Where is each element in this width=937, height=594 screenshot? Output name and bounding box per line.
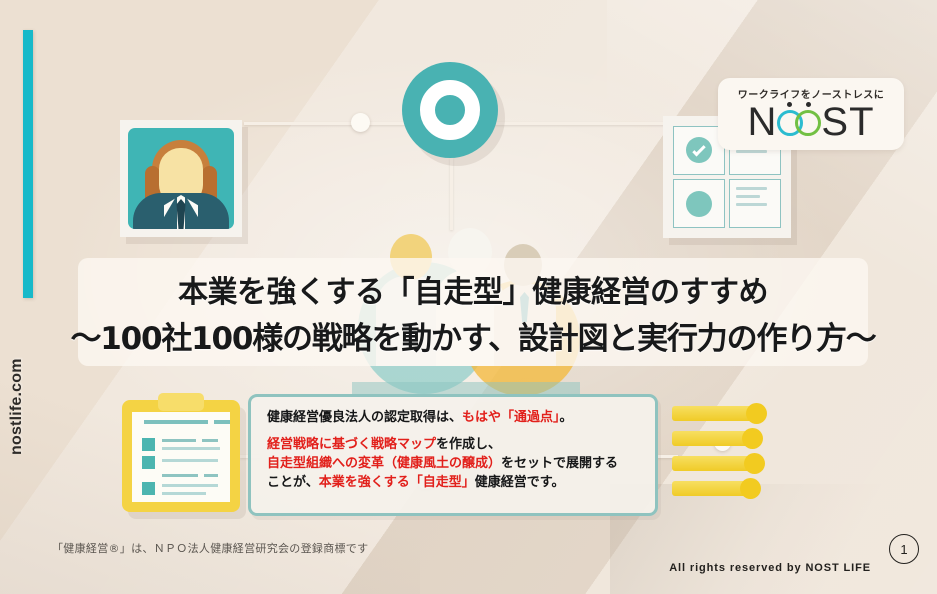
bullet-dot-icon [742,428,763,449]
logo-letter-s: S [821,102,849,142]
message-p1-part-a: 健康経営優良法人の認定取得は、 [267,410,462,425]
message-paragraph-4: ことが、本業を強くする「自走型」健康経営です。 [267,474,641,493]
target-donut-icon [402,62,498,158]
clipboard-checkbox-icon [142,482,155,495]
clipboard-row-line [162,492,206,495]
document-text-line [736,150,767,153]
page-title-line-2: 〜100社100様の戦略を動かす、設計図と実行力の作り方〜 [70,313,875,358]
check-circle-icon [686,137,712,163]
document-text-lines [736,187,774,211]
connector-line-avatar-to-donut [244,122,414,125]
brand-accent-bar [23,30,33,298]
logo-tagline: ワークライフをノーストレスに [738,86,885,101]
clipboard-illustration [122,400,240,512]
bullet-bar-icon [672,481,748,496]
connector-line-donut-to-doc [486,122,666,125]
bullet-bar-icon [672,431,750,446]
bullet-list-illustration [672,406,780,506]
clipboard-heading-bar [144,420,208,424]
bullet-dot-icon [740,478,761,499]
message-p1-part-c: 。 [560,410,573,425]
check-mark-icon [692,144,705,157]
clipboard-clip-icon [158,393,204,411]
logo-umlaut-left-icon [787,102,792,107]
logo-letter-t: T [849,102,874,142]
document-cell-circle [673,179,725,228]
connector-dot-left [351,113,370,132]
page-number-badge: 1 [889,534,919,564]
clipboard-heading-bar-2 [214,420,230,424]
message-p4-part-c: 健康経営です。 [475,475,565,490]
clipboard-row-line [162,447,220,450]
message-paragraph-3: 自走型組織への変革（健康風土の醸成）をセットで展開する [267,455,641,474]
logo-umlaut-right-icon [806,102,811,107]
logo-o-right-icon [795,110,821,136]
title-panel: 本業を強くする「自走型」健康経営のすすめ 〜100社100様の戦略を動かす、設計… [78,258,868,366]
avatar-card [120,120,242,237]
document-cell-lines-bottom [729,179,781,228]
clipboard-checkbox-icon [142,456,155,469]
trademark-notice: 「健康経営®」は、ＮＰＯ法人健康経営研究会の登録商標です [52,540,368,556]
document-text-line [736,187,767,190]
message-p2-highlight: 経営戦略に基づく戦略マップ [267,437,436,452]
message-p1-highlight: もはや「通過点」 [462,410,560,425]
plain-circle-icon [686,191,712,217]
site-url-vertical: nostlife.com [8,312,48,502]
bullet-dot-icon [746,403,767,424]
logo-wordmark: N S T [747,102,874,142]
clipboard-board-icon [122,400,240,512]
avatar [128,128,234,229]
message-p3-part-b: をセットで展開する [501,456,618,471]
slide-canvas: nostlife.com [0,0,937,594]
clipboard-row-line [162,474,198,477]
bullet-bar-icon [672,456,752,471]
clipboard-row-line [204,474,218,477]
document-text-line [736,203,767,206]
clipboard-row-line [202,439,218,442]
message-paragraph-1: 健康経営優良法人の認定取得は、もはや「通過点」。 [267,409,641,428]
logo-letter-n: N [747,102,777,142]
message-p3-highlight: 自走型組織への変革（健康風土の醸成） [267,456,501,471]
key-message-box: 健康経営優良法人の認定取得は、もはや「通過点」。 経営戦略に基づく戦略マップを作… [248,394,658,516]
clipboard-row-line [162,459,218,462]
donut-notch-icon [468,80,485,97]
logo-double-o-icon [777,102,821,142]
document-text-line [736,195,759,198]
connector-line-donut-to-center [450,158,453,230]
page-title-line-1: 本業を強くする「自走型」健康経営のすすめ [178,267,768,311]
clipboard-row-line [162,439,196,442]
bullet-bar-icon [672,406,754,421]
message-p4-highlight: 本業を強くする「自走型」 [319,475,475,490]
message-p4-part-a: ことが、 [267,475,319,490]
message-p2-part-b: を作成し、 [436,437,501,452]
clipboard-paper [132,412,230,502]
bullet-dot-icon [744,453,765,474]
clipboard-row-line [162,484,218,487]
copyright-notice: All rights reserved by NOST LIFE [669,562,871,574]
message-paragraph-2: 経営戦略に基づく戦略マップを作成し、 [267,436,641,455]
clipboard-checkbox-icon [142,438,155,451]
nost-logo-card[interactable]: ワークライフをノーストレスに N S T [718,78,904,150]
